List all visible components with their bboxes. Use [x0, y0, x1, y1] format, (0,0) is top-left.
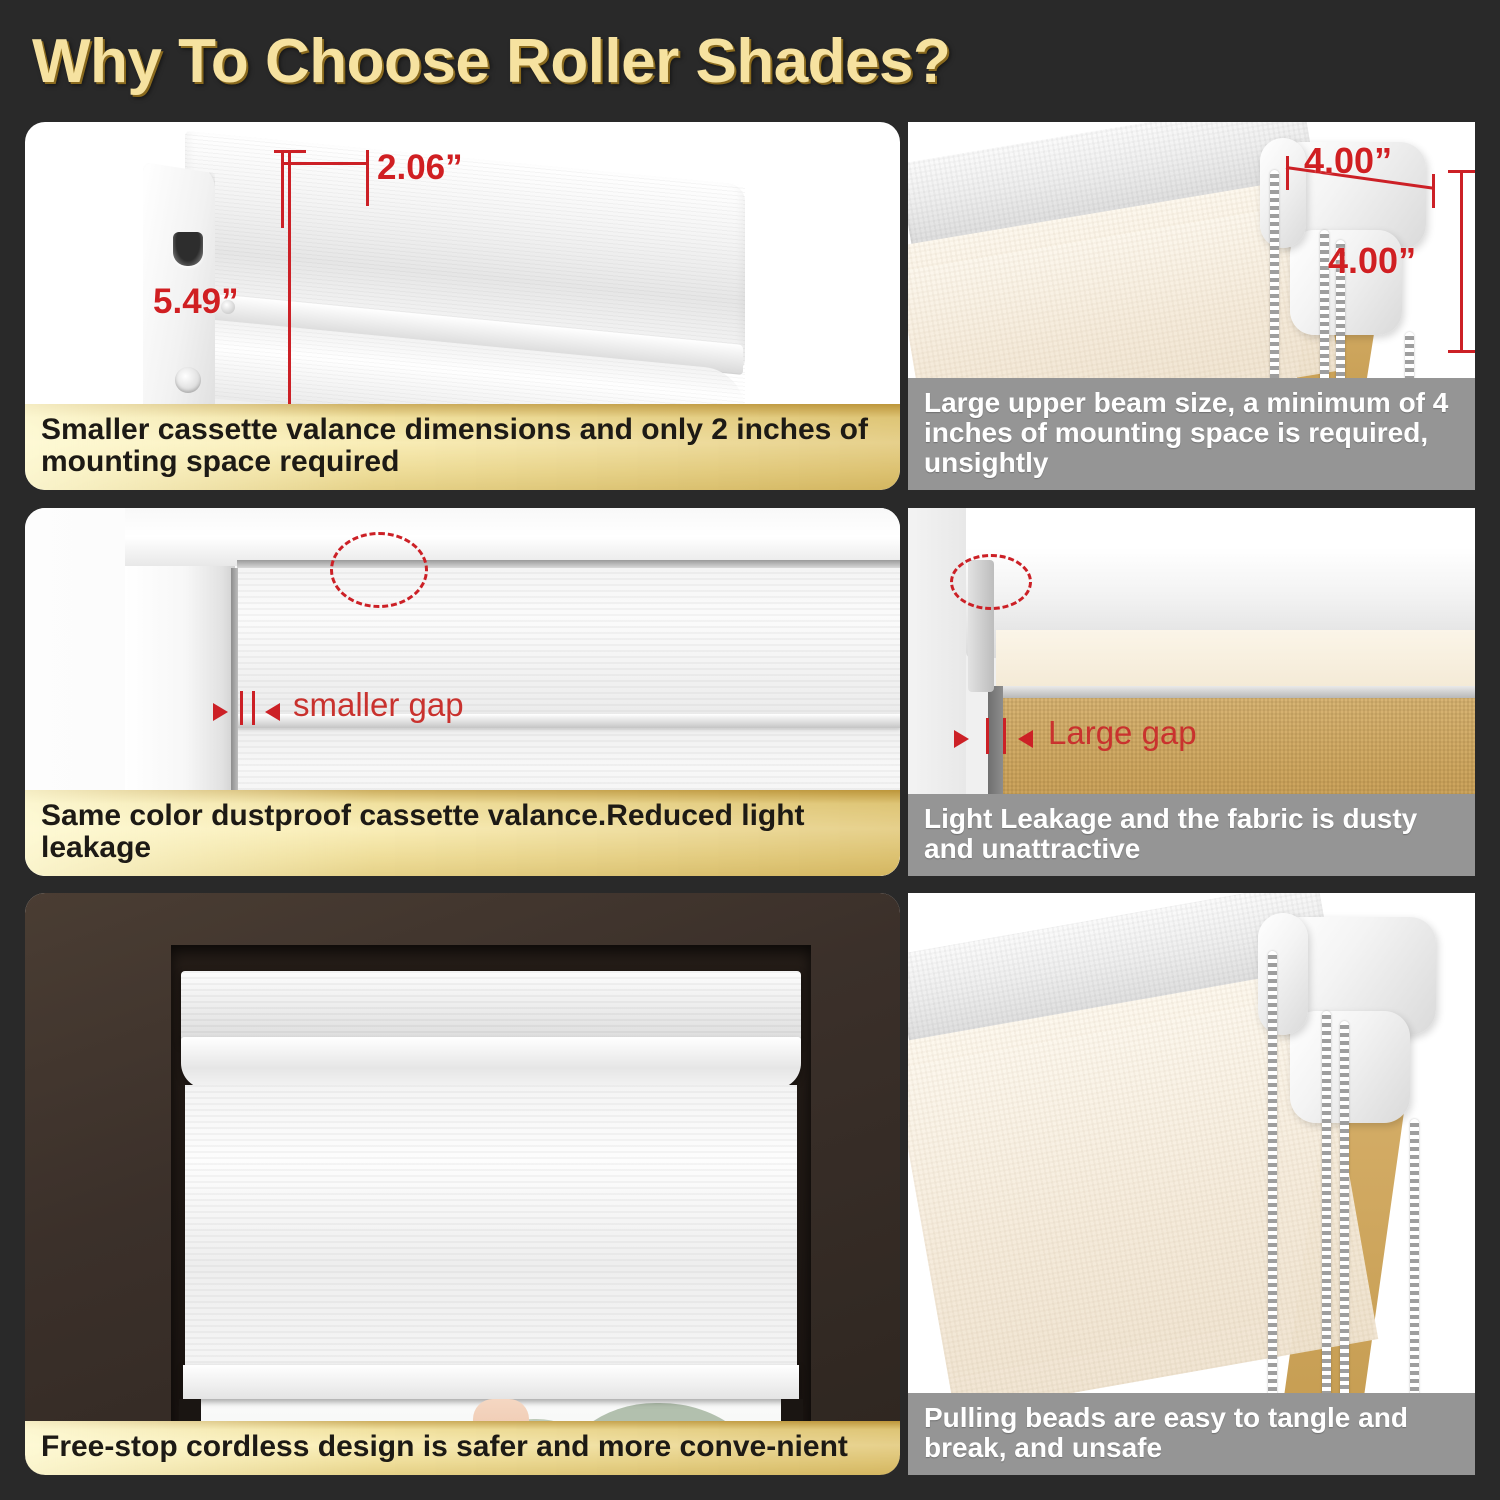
panel-smaller-cassette-valance: 2.06” 5.49” Smaller cassette valance dim… [25, 122, 900, 490]
page-title: Why To Choose Roller Shades? [32, 20, 1132, 104]
rolled-fabric [181, 1037, 801, 1089]
dim-line-width [281, 162, 369, 165]
smaller-gap-label: smaller gap [293, 686, 464, 724]
bottom-rail [996, 686, 1475, 698]
large-gap-label: Large gap [1048, 714, 1197, 752]
bead-chain-3[interactable] [1340, 1021, 1349, 1403]
caption-free-stop-cordless: Free-stop cordless design is safer and m… [25, 1421, 900, 1475]
panel-dustproof-cassette-valance: smaller gap Same color dustproof cassett… [25, 508, 900, 876]
roller-end-disc [1258, 913, 1308, 1035]
height-dimension-label: 5.49” [153, 282, 239, 322]
bead-chain-4[interactable] [1410, 1119, 1419, 1409]
panel-pulling-beads: Pulling beads are easy to tangle and bre… [908, 893, 1475, 1475]
ceiling-strip [908, 508, 1475, 548]
bead-chain-1[interactable] [1268, 951, 1277, 1401]
dim-cap-top [274, 150, 306, 153]
cream-valance-strip [996, 630, 1475, 688]
gap-arrow-right-icon [213, 703, 228, 721]
product-illustration-bead-chains [908, 893, 1475, 1475]
cassette-valance [181, 971, 801, 1043]
width-dimension-label: 2.06” [377, 148, 463, 188]
lifestyle-photo-cordless-shade [25, 893, 900, 1475]
beam-height-label: 4.00” [1328, 240, 1416, 282]
dim-line-beam-height [1460, 170, 1463, 352]
dim-cap-top2 [1448, 170, 1475, 173]
end-cap-slot [173, 232, 203, 266]
gap-arrow-left-icon [1018, 730, 1033, 748]
dim-tick-right-top [366, 150, 369, 206]
dim-cap-bottom2 [1448, 350, 1475, 353]
caption-smaller-cassette-valance: Smaller cassette valance dimensions and … [25, 404, 900, 490]
highlight-circle-icon [950, 554, 1032, 610]
gap-marker-1 [240, 691, 243, 725]
beam-width-label: 4.00” [1304, 140, 1392, 182]
caption-light-leakage: Light Leakage and the fabric is dusty an… [908, 794, 1475, 876]
bead-chain-2[interactable] [1322, 1011, 1331, 1403]
dim-tick-right [1432, 174, 1435, 208]
window-frame-top [125, 508, 900, 566]
caption-large-upper-beam: Large upper beam size, a minimum of 4 in… [908, 378, 1475, 490]
gap-arrow-right-icon [954, 730, 969, 748]
highlight-circle-icon [330, 532, 428, 608]
lower-mounting-bracket [1290, 1011, 1410, 1123]
gap-marker-2 [1003, 718, 1006, 754]
caption-pulling-beads: Pulling beads are easy to tangle and bre… [908, 1393, 1475, 1475]
panel-large-upper-beam: 4.00” 4.00” Large upper beam size, a min… [908, 122, 1475, 490]
gap-arrow-left-icon [265, 703, 280, 721]
bottom-bar [183, 1365, 799, 1399]
panel-light-leakage: Large gap Light Leakage and the fabric i… [908, 508, 1475, 876]
shade-fabric [185, 1085, 797, 1385]
end-cap-screw-lower [175, 367, 201, 393]
roller-end-disc [1260, 138, 1306, 248]
caption-dustproof-cassette-valance: Same color dustproof cassette valance.Re… [25, 790, 900, 876]
panel-free-stop-cordless: Free-stop cordless design is safer and m… [25, 893, 900, 1475]
gap-marker-2 [252, 691, 255, 725]
gap-marker-1 [986, 718, 989, 754]
dim-tick-left [1286, 156, 1289, 190]
